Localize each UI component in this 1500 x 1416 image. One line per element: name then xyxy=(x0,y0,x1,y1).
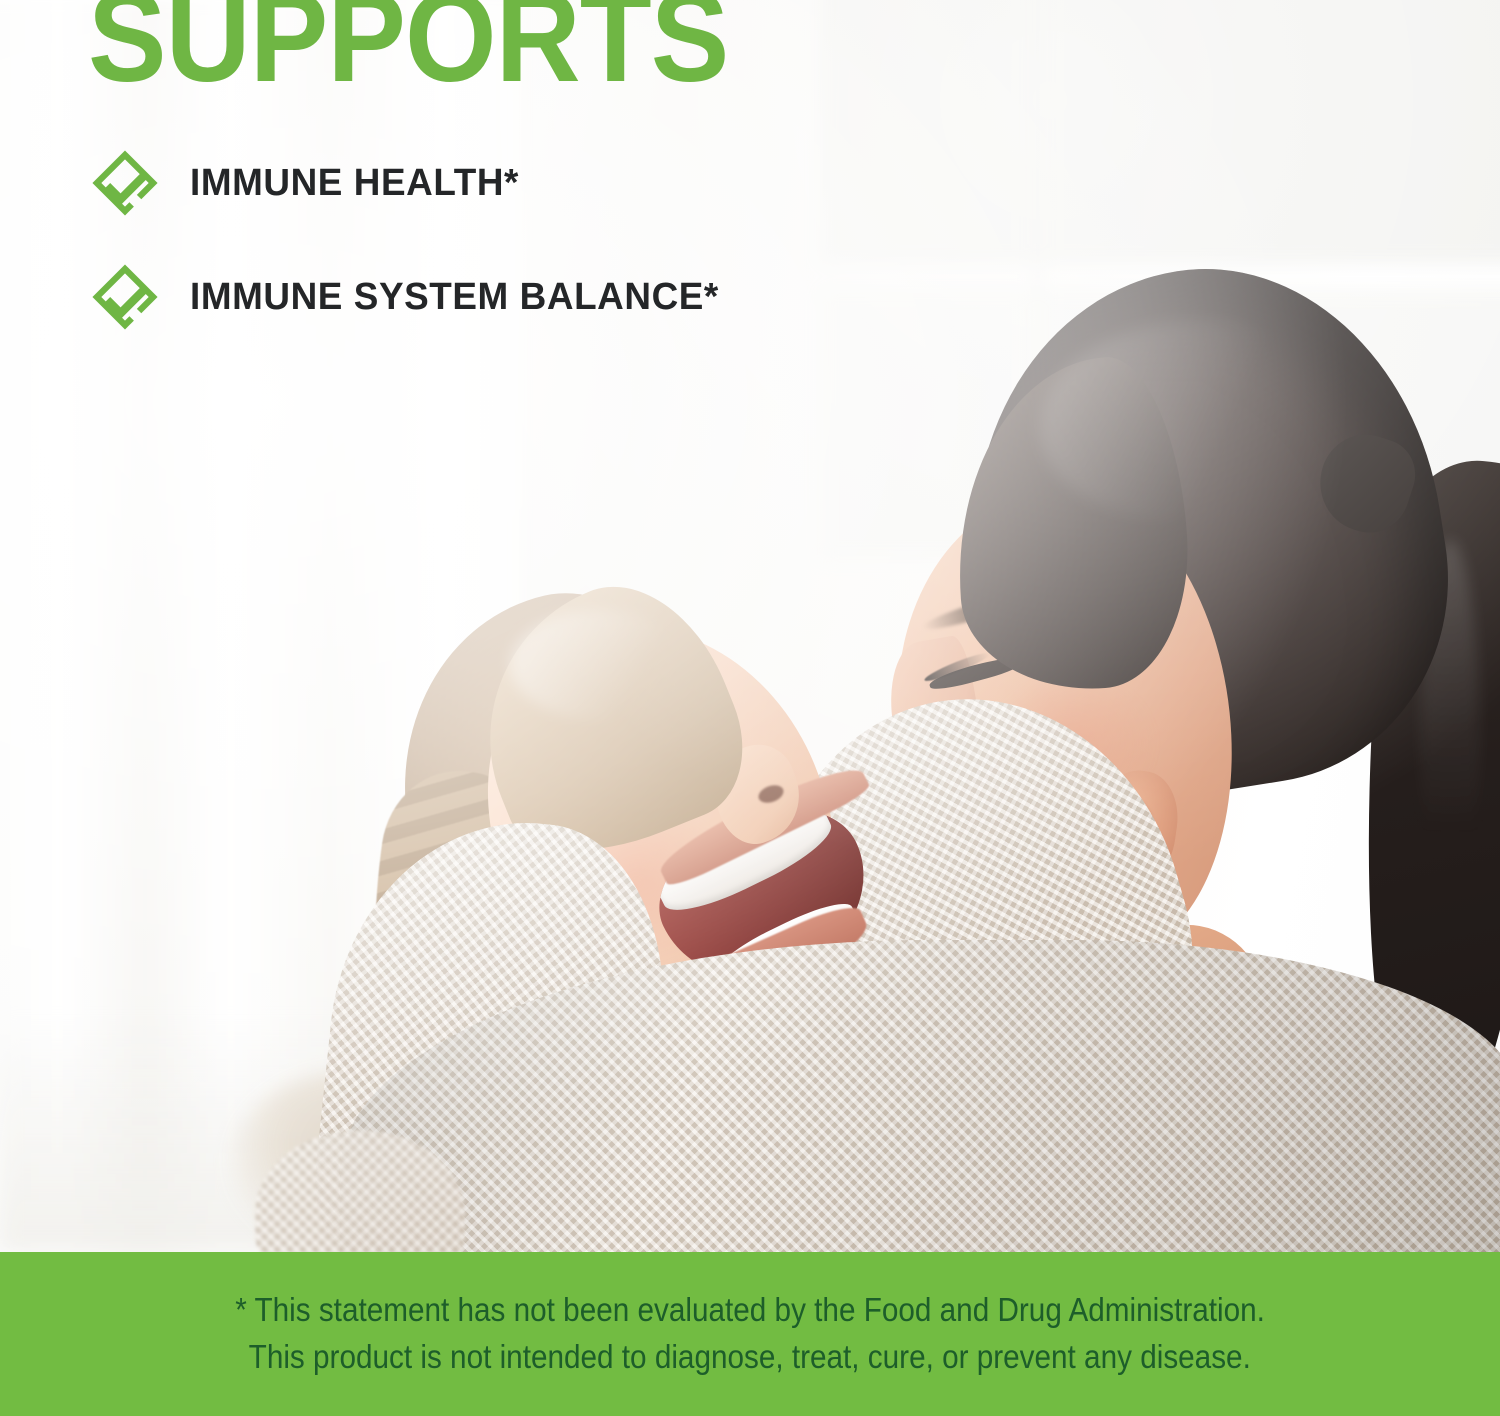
girl-hair-highlight xyxy=(510,610,690,720)
disclaimer-line-2: This product is not intended to diagnose… xyxy=(249,1334,1251,1381)
product-feature-card: SUPPORTS IMMUNE HEALTH* IMMUNE SYSTEM BA… xyxy=(0,0,1500,1416)
benefit-item-immune-system-balance: IMMUNE SYSTEM BALANCE* xyxy=(88,260,735,334)
benefit-item-immune-health: IMMUNE HEALTH* xyxy=(88,146,735,220)
diamond-check-icon xyxy=(88,260,162,334)
diamond-check-icon xyxy=(88,146,162,220)
disclaimer-banner: * This statement has not been evaluated … xyxy=(0,1252,1500,1416)
benefits-list: IMMUNE HEALTH* IMMUNE SYSTEM BALANCE* xyxy=(88,146,735,334)
disclaimer-line-1: * This statement has not been evaluated … xyxy=(235,1287,1265,1334)
page-title: SUPPORTS xyxy=(88,0,728,102)
benefit-label: IMMUNE HEALTH* xyxy=(190,162,519,205)
benefit-label: IMMUNE SYSTEM BALANCE* xyxy=(190,276,719,319)
